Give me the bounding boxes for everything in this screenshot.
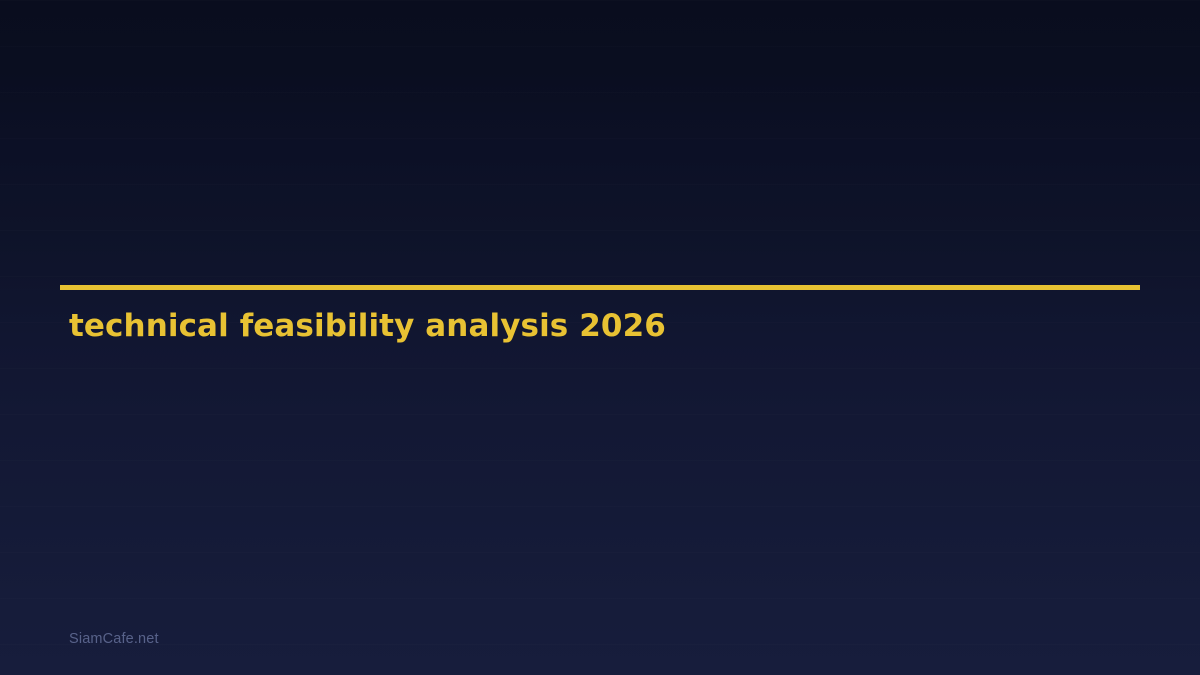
footer-attribution: SiamCafe.net bbox=[69, 630, 159, 649]
title-slide: technical feasibility analysis 2026 Siam… bbox=[0, 0, 1200, 675]
title-block: technical feasibility analysis 2026 bbox=[60, 285, 1140, 345]
page-title: technical feasibility analysis 2026 bbox=[60, 290, 1140, 345]
